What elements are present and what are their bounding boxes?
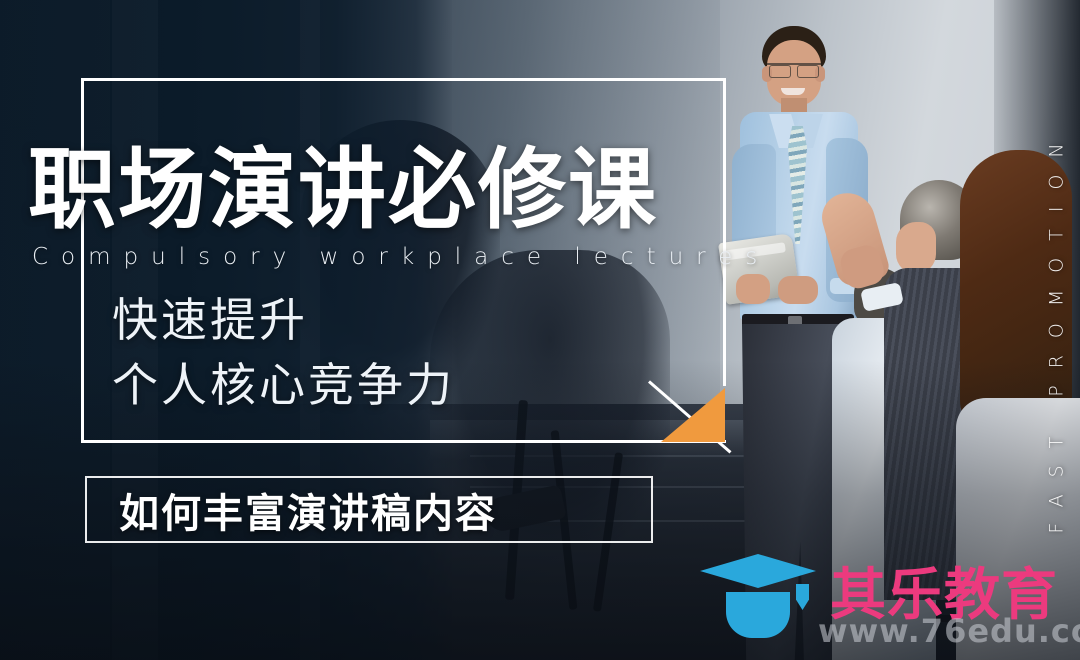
course-promo-banner: 职场演讲必修课 Compulsory workplace lectures 快速… xyxy=(0,0,1080,660)
audience-face xyxy=(896,222,936,274)
graduation-cap-icon xyxy=(700,554,816,638)
cta-box[interactable]: 如何丰富演讲稿内容 xyxy=(85,476,653,543)
tagline-line-2: 个人核心竞争力 xyxy=(112,353,455,418)
glasses-icon xyxy=(767,63,821,75)
vertical-side-text: FAST PROMOTION xyxy=(1046,126,1068,533)
page-title: 职场演讲必修课 xyxy=(28,146,658,234)
english-subtitle: Compulsory workplace lectures xyxy=(32,246,770,269)
presenter-hand-left xyxy=(736,274,770,304)
cta-label: 如何丰富演讲稿内容 xyxy=(119,481,497,539)
orange-triangle-accent xyxy=(661,388,725,442)
presenter-hand-right xyxy=(778,276,818,304)
graduation-cap-tassel xyxy=(796,584,809,610)
brand-logo[interactable]: 其乐教育 www.76edu.com xyxy=(700,552,1070,652)
graduation-cap-base xyxy=(726,592,790,638)
decorative-frame-right-edge xyxy=(723,78,726,386)
presenter-smile xyxy=(781,88,805,95)
brand-url: www.76edu.com xyxy=(818,612,1080,650)
tagline-line-1: 快速提升 xyxy=(112,288,455,353)
tagline-block: 快速提升 个人核心竞争力 xyxy=(112,288,455,419)
